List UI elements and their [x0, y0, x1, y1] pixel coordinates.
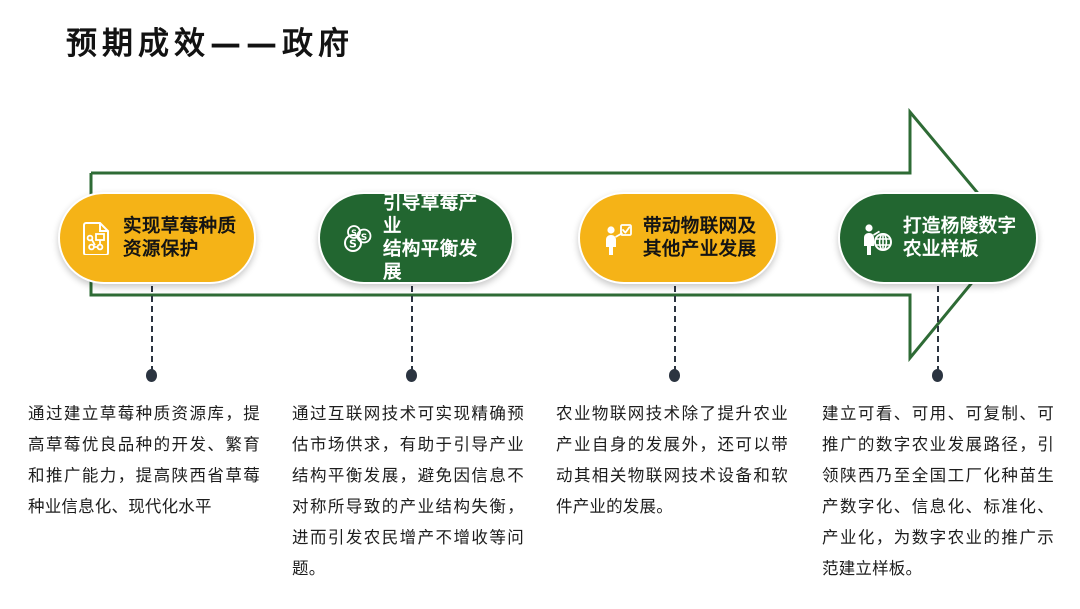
step-pill-label-3: 带动物联网及 其他产业发展	[643, 215, 756, 261]
connector-line-2	[411, 286, 413, 372]
step-description-4: 建立可看、可用、可复制、可推广的数字农业发展路径，引领陕西乃至全国工厂化种苗生产…	[822, 398, 1054, 584]
step-pill-label-4: 打造杨陵数字 农业样板	[903, 215, 1016, 261]
coins-icon: S S S	[340, 218, 374, 258]
step-pill-2[interactable]: S S S 引导草莓产业 结构平衡发展	[318, 192, 514, 284]
svg-text:S: S	[349, 238, 357, 251]
connector-line-3	[674, 286, 676, 372]
step-pill-3[interactable]: 带动物联网及 其他产业发展	[578, 192, 778, 284]
step-description-2: 通过互联网技术可实现精确预估市场供求，有助于引导产业结构平衡发展，避免因信息不对…	[292, 398, 524, 584]
connector-dot-2	[406, 369, 417, 382]
connector-dot-3	[669, 369, 680, 382]
step-pill-label-2: 引导草莓产业 结构平衡发展	[383, 192, 496, 284]
step-description-3: 农业物联网技术除了提升农业产业自身的发展外，还可以带动其相关物联网技术设备和软件…	[556, 398, 788, 522]
connector-dot-4	[932, 369, 943, 382]
step-pill-1[interactable]: 实现草莓种质 资源保护	[58, 192, 256, 284]
step-pill-label-1: 实现草莓种质 资源保护	[123, 215, 236, 261]
connector-line-4	[937, 286, 939, 372]
person-checklist-icon	[600, 218, 634, 258]
document-network-icon	[80, 218, 114, 258]
slide-canvas: 预期成效——政府 实现草莓种质 资源保护	[0, 0, 1080, 609]
person-globe-icon	[860, 218, 894, 258]
step-pill-4[interactable]: 打造杨陵数字 农业样板	[838, 192, 1038, 284]
connector-dot-1	[146, 369, 157, 382]
step-description-1: 通过建立草莓种质资源库，提高草莓优良品种的开发、繁育和推广能力，提高陕西省草莓种…	[28, 398, 260, 522]
connector-line-1	[151, 286, 153, 372]
